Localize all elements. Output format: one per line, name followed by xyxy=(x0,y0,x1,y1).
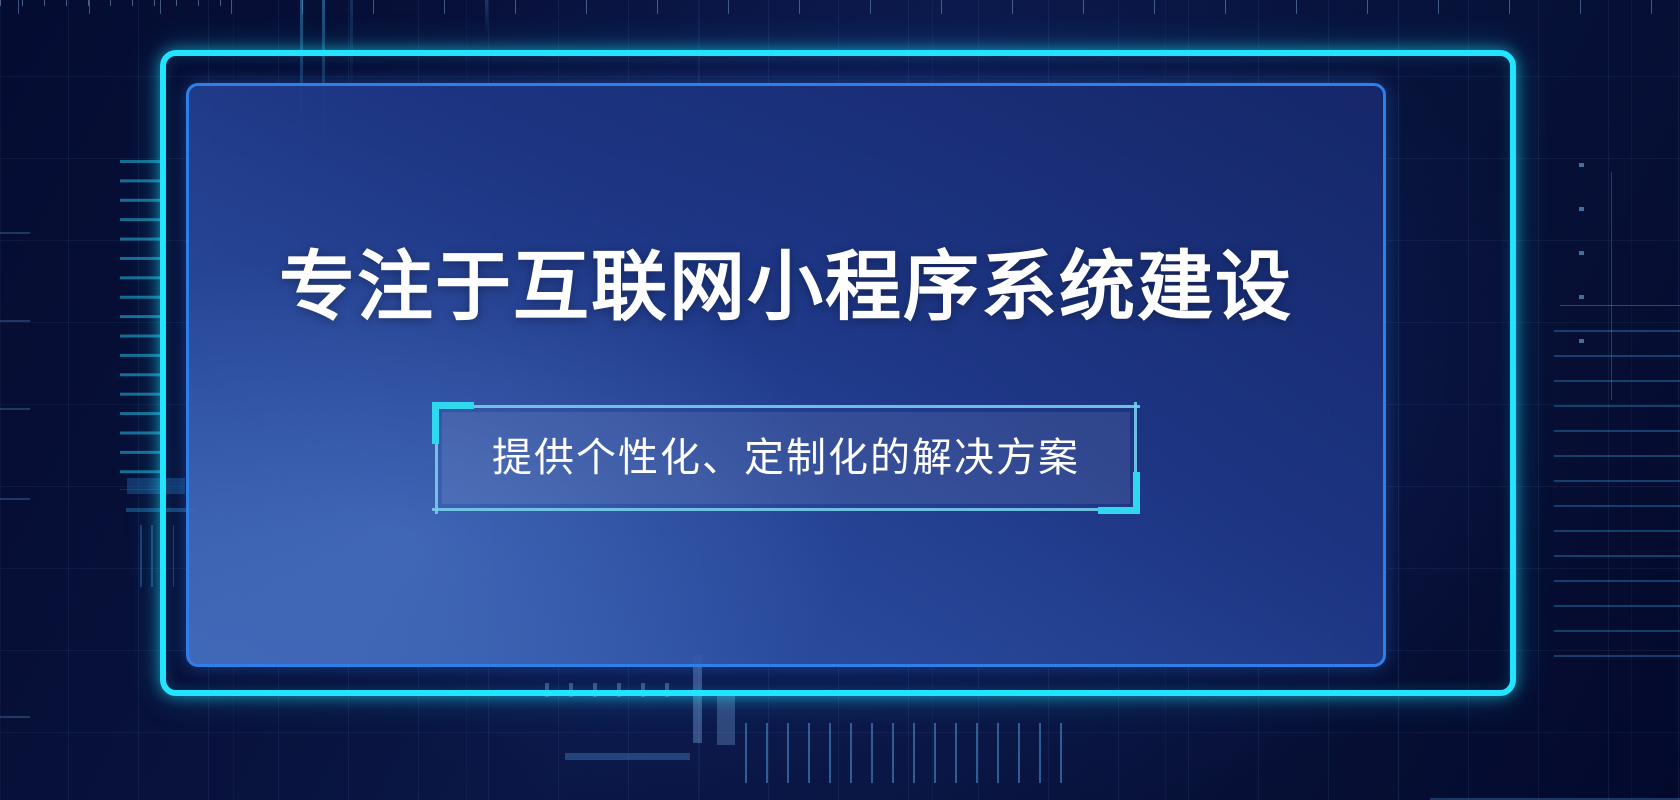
hero-banner: 专注于互联网小程序系统建设 提供个性化、定制化的解决方案 xyxy=(0,0,1680,800)
bottom-tall-bar xyxy=(693,655,702,743)
left-ladder-decoration xyxy=(120,160,164,490)
top-tick-marks-dense xyxy=(0,0,230,6)
corner-bracket-top-left-icon xyxy=(432,402,474,444)
corner-bracket-bottom-right-icon xyxy=(1098,472,1140,514)
left-dash-mark xyxy=(0,408,30,410)
subtitle-box: 提供个性化、定制化的解决方案 xyxy=(442,412,1130,504)
page-title: 专注于互联网小程序系统建设 xyxy=(279,246,1293,330)
left-dash-mark xyxy=(0,232,30,234)
bottom-underline-mark xyxy=(565,753,690,760)
bottom-mid-bar xyxy=(717,693,735,745)
left-dash-mark xyxy=(0,320,30,322)
subtitle-edge-left xyxy=(435,442,438,514)
banner-content: 专注于互联网小程序系统建设 提供个性化、定制化的解决方案 xyxy=(186,83,1386,667)
vertical-streak-icon xyxy=(485,0,488,34)
left-ladder-block xyxy=(127,478,185,494)
left-dash-mark xyxy=(0,716,30,718)
subtitle-edge-top xyxy=(472,405,1140,408)
bottom-square-marks xyxy=(545,683,675,697)
subtitle-edge-bottom xyxy=(432,508,1100,511)
page-subtitle: 提供个性化、定制化的解决方案 xyxy=(492,434,1080,482)
left-vertical-bars xyxy=(140,525,174,587)
right-dot-column xyxy=(1579,163,1584,383)
left-dash-mark xyxy=(0,498,30,500)
bottom-comb-bars xyxy=(745,723,1065,783)
right-divider-line xyxy=(1560,305,1680,306)
top-tick-marks xyxy=(0,0,1680,14)
subtitle-edge-right xyxy=(1134,402,1137,474)
right-ladder-decoration xyxy=(1554,330,1680,658)
right-hairline xyxy=(1611,172,1612,400)
